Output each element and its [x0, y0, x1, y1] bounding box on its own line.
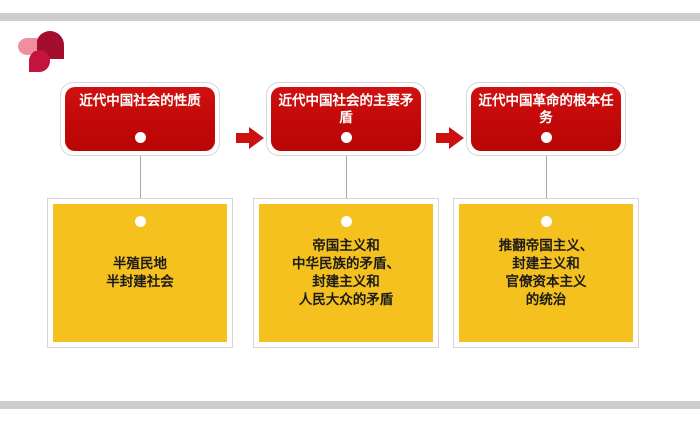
arrow-right-icon-2	[436, 127, 464, 149]
flow-node-top-1-connector-dot	[135, 132, 146, 143]
flow-node-bottom-2-connector-dot	[341, 216, 352, 227]
flow-node-bottom-1-body: 半殖民地 半封建社会	[53, 204, 227, 342]
arrow-right-icon-1-head	[249, 127, 264, 149]
flow-node-top-3-body: 近代中国革命的根本任务	[471, 87, 621, 151]
flow-node-bottom-2[interactable]: 帝国主义和 中华民族的矛盾、 封建主义和 人民大众的矛盾	[253, 198, 439, 348]
flow-node-bottom-2-body: 帝国主义和 中华民族的矛盾、 封建主义和 人民大众的矛盾	[259, 204, 433, 342]
flow-node-bottom-2-label: 帝国主义和 中华民族的矛盾、 封建主义和 人民大众的矛盾	[263, 237, 429, 309]
flow-node-top-1-label: 近代中国社会的性质	[71, 93, 209, 110]
flow-node-top-2-body: 近代中国社会的主要矛盾	[271, 87, 421, 151]
flower-logo-icon	[18, 31, 64, 73]
flow-node-top-3[interactable]: 近代中国革命的根本任务	[466, 82, 626, 156]
flow-node-bottom-3-label: 推翻帝国主义、 封建主义和 官僚资本主义 的统治	[463, 237, 629, 309]
slide-top-band	[0, 13, 700, 21]
slide-canvas: 近代中国社会的性质 近代中国社会的主要矛盾 近代中国革命的根本任务 半殖民地 半…	[0, 0, 700, 421]
flow-node-bottom-1-label: 半殖民地 半封建社会	[57, 255, 223, 291]
slide-bottom-band	[0, 401, 700, 409]
flow-node-top-3-connector-dot	[541, 132, 552, 143]
flow-node-bottom-1[interactable]: 半殖民地 半封建社会	[47, 198, 233, 348]
flow-node-top-2-connector-dot	[341, 132, 352, 143]
flow-node-top-1-body: 近代中国社会的性质	[65, 87, 215, 151]
flow-node-top-1[interactable]: 近代中国社会的性质	[60, 82, 220, 156]
flow-node-bottom-3-body: 推翻帝国主义、 封建主义和 官僚资本主义 的统治	[459, 204, 633, 342]
flower-logo-petal-crimson	[29, 50, 50, 72]
flow-node-bottom-1-connector-dot	[135, 216, 146, 227]
flow-node-bottom-3[interactable]: 推翻帝国主义、 封建主义和 官僚资本主义 的统治	[453, 198, 639, 348]
flow-node-top-3-label: 近代中国革命的根本任务	[477, 93, 615, 127]
flow-node-top-2[interactable]: 近代中国社会的主要矛盾	[266, 82, 426, 156]
arrow-right-icon-1	[236, 127, 264, 149]
flow-node-top-2-label: 近代中国社会的主要矛盾	[277, 93, 415, 127]
arrow-right-icon-2-head	[449, 127, 464, 149]
flow-node-bottom-3-connector-dot	[541, 216, 552, 227]
